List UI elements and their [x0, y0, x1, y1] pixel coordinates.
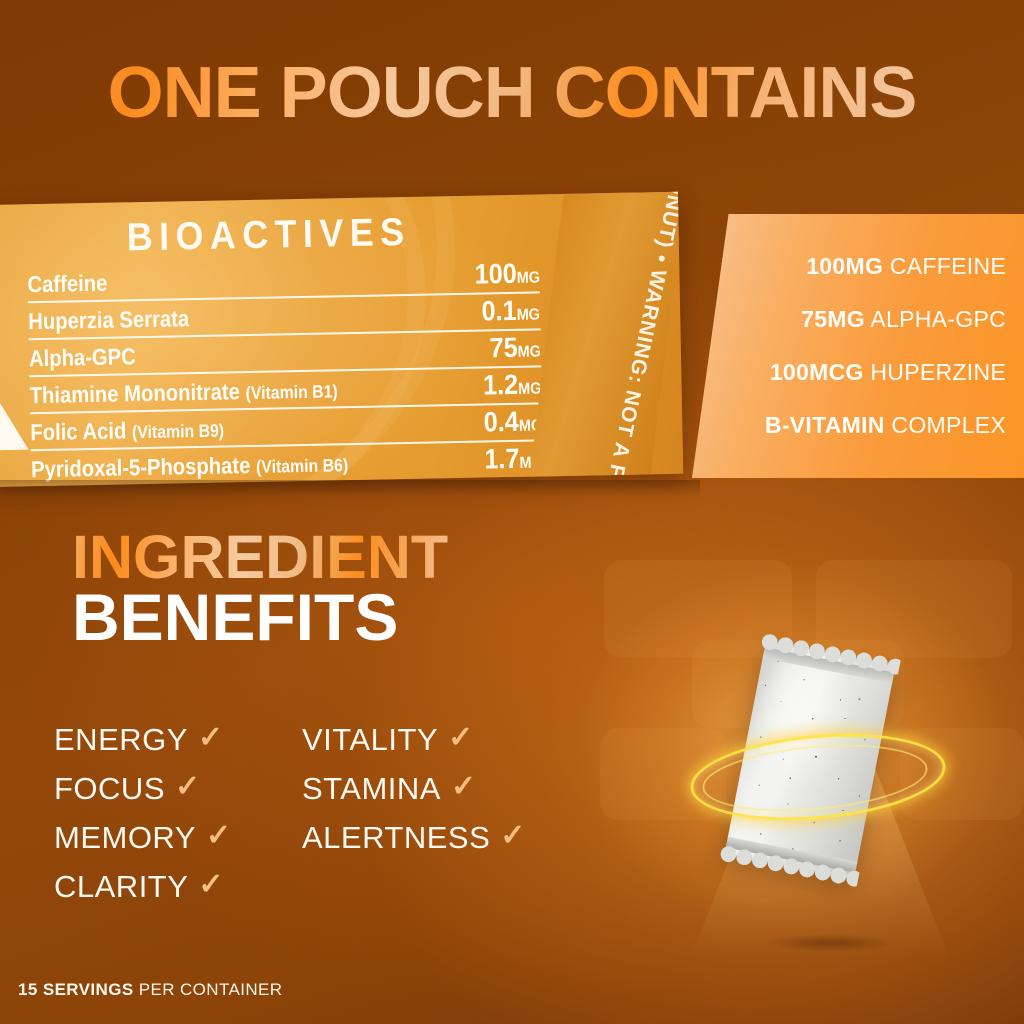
benefits-column-right: VITALITY ✓ STAMINA ✓ ALERTNESS ✓ — [302, 715, 525, 862]
highlight-item: B-VITAMIN COMPLEX — [702, 412, 1024, 439]
pouch-floor-shadow — [735, 930, 925, 956]
list-item: ALERTNESS ✓ — [302, 813, 525, 862]
ingredient-name: Huperzia Serrata — [28, 305, 189, 335]
watermark-block-4 — [600, 728, 726, 820]
label-bottom-shadow — [0, 480, 700, 496]
bioactives-heading: BIOACTIVES — [11, 209, 527, 263]
benefits-heading-line2: BENEFITS — [72, 584, 448, 651]
list-item: ENERGY ✓ — [54, 715, 231, 764]
pouch-body — [725, 641, 896, 878]
list-item: FOCUS ✓ — [54, 764, 231, 813]
benefits-heading: INGREDIENT BENEFITS — [72, 527, 448, 651]
check-icon: ✓ — [451, 772, 476, 802]
check-icon: ✓ — [448, 723, 473, 753]
servings-count: 15 SERVINGS — [18, 980, 134, 999]
ingredient-name: Folic Acid (Vitamin B9) — [30, 416, 224, 447]
ingredient-name: Pyridoxal-5-Phosphate (Vitamin B6) — [31, 450, 349, 483]
ingredient-amount: 75MG — [489, 331, 541, 364]
check-icon: ✓ — [198, 723, 223, 753]
list-item: STAMINA ✓ — [302, 764, 525, 813]
check-icon: ✓ — [175, 772, 200, 802]
benefits-heading-line1: INGREDIENT — [72, 527, 448, 588]
check-icon: ✓ — [198, 870, 223, 900]
ingredient-name: Caffeine — [27, 270, 107, 299]
product-pouch — [725, 641, 896, 878]
ingredient-amount: 0.1MG — [482, 294, 541, 327]
ingredient-name: Thiamine Mononitrate (Vitamin B1) — [29, 376, 337, 409]
check-icon: ✓ — [206, 821, 231, 851]
ingredient-name: Alpha-GPC — [29, 343, 136, 372]
warning-text: ONUT) • WARNING: NOT A F — [598, 192, 683, 487]
highlight-item: 100MG CAFFEINE — [702, 253, 1024, 280]
key-ingredients-panel: 100MG CAFFEINE 75MG ALPHA-GPC 100MCG HUP… — [692, 214, 1024, 478]
list-item: CLARITY ✓ — [54, 862, 231, 911]
highlight-item: 75MG ALPHA-GPC — [702, 306, 1024, 333]
watermark-block-5 — [900, 728, 1024, 820]
benefits-column-left: ENERGY ✓ FOCUS ✓ MEMORY ✓ CLARITY ✓ — [54, 715, 231, 911]
warning-side-strip: ONUT) • WARNING: NOT A F — [527, 192, 683, 487]
check-icon: ✓ — [500, 821, 525, 851]
infographic-canvas: ONE POUCH CONTAINS BIOACTIVES Caffeine 1… — [0, 0, 1024, 1024]
watermark-block-2 — [816, 560, 1012, 658]
list-item: MEMORY ✓ — [54, 813, 231, 862]
nutrition-label-panel: BIOACTIVES Caffeine 100MG Huperzia Serra… — [0, 192, 683, 487]
label-arrow-marker — [0, 392, 29, 451]
bioactives-table: Caffeine 100MG Huperzia Serrata 0.1MG Al… — [27, 256, 543, 486]
page-title: ONE POUCH CONTAINS — [0, 52, 1024, 134]
ingredient-amount: 100MG — [474, 257, 540, 290]
servings-footer: 15 SERVINGS PER CONTAINER — [18, 980, 282, 1000]
highlight-item: 100MCG HUPERZINE — [702, 359, 1024, 386]
ingredient-amount: 1.2MG — [483, 368, 542, 401]
list-item: VITALITY ✓ — [302, 715, 525, 764]
servings-label: PER CONTAINER — [139, 980, 283, 999]
